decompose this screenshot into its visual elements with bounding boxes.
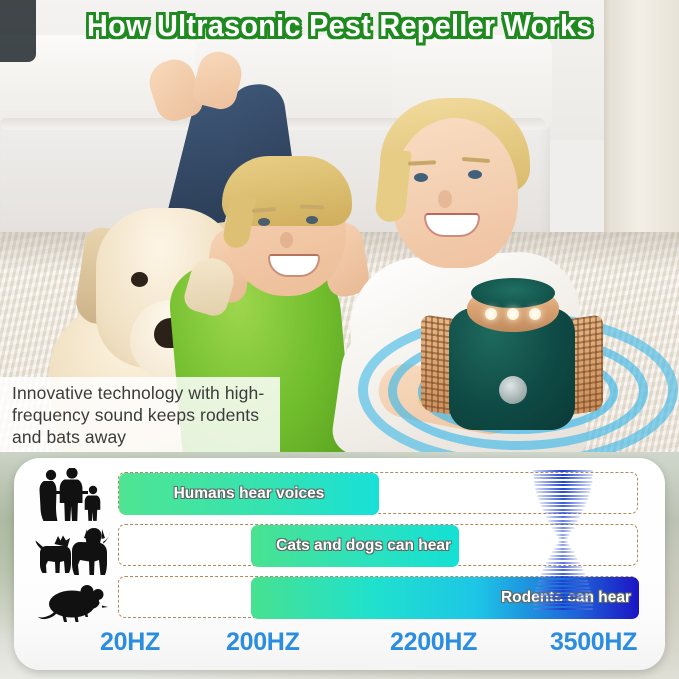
- waveform-line: [534, 484, 591, 486]
- bar-label-humans: Humans hear voices: [174, 485, 325, 503]
- bar-cats-dogs[interactable]: Cats and dogs can hear: [251, 525, 459, 567]
- waveform-line: [556, 534, 570, 536]
- waveform-line: [534, 594, 591, 596]
- woman-head: [392, 118, 518, 268]
- waveform-line: [554, 530, 572, 532]
- device-led-2: [507, 308, 519, 320]
- waveform-line: [543, 509, 584, 511]
- waveform-line: [537, 583, 589, 585]
- waveform-line: [556, 544, 570, 546]
- cat-and-dog-icon: [34, 522, 110, 576]
- axis-tick-2200hz: 2200HZ: [390, 628, 477, 657]
- waveform-line: [534, 481, 593, 483]
- woman-eye-right: [468, 170, 482, 179]
- waveform-line: [538, 498, 588, 500]
- waveform-line: [537, 495, 589, 497]
- bar-label-cats-dogs: Cats and dogs can hear: [276, 537, 451, 555]
- lifestyle-photo: Innovative technology with high-frequenc…: [0, 0, 679, 460]
- waveform-line: [552, 551, 575, 553]
- page-title: How Ultrasonic Pest Repeller Works: [87, 8, 593, 44]
- waveform-line: [544, 566, 582, 568]
- waveform-line: [540, 576, 587, 578]
- boy-eye-left: [258, 218, 270, 226]
- waveform-line: [533, 601, 592, 603]
- waveform-line: [541, 573, 585, 575]
- waveform-line: [540, 502, 587, 504]
- product-infographic: Innovative technology with high-frequenc…: [0, 0, 679, 679]
- waveform-line: [533, 474, 593, 476]
- waveform-line: [544, 512, 582, 514]
- photo-caption: Innovative technology with high-frequenc…: [0, 377, 280, 456]
- device-sensor: [499, 376, 527, 404]
- waveform-line: [543, 569, 584, 571]
- waveform-line: [554, 548, 572, 550]
- ultrasonic-waveform-icon: [530, 470, 596, 610]
- device-led-1: [485, 308, 497, 320]
- waveform-line: [548, 558, 578, 560]
- waveform-line: [550, 555, 576, 557]
- species-icon-column: [34, 468, 110, 630]
- boy-eye-right: [306, 216, 318, 224]
- waveform-line: [535, 590, 591, 592]
- waveform-line: [533, 470, 593, 472]
- waveform-line: [541, 505, 585, 507]
- waveform-line: [534, 597, 593, 599]
- waveform-line: [550, 523, 576, 525]
- dog-eye-left: [131, 272, 148, 287]
- woman-nose: [438, 190, 452, 208]
- woman-eye-left: [414, 173, 428, 182]
- family-icon: [34, 468, 110, 522]
- waveform-line: [533, 604, 593, 606]
- waveform-line: [538, 580, 588, 582]
- waveform-line: [535, 488, 591, 490]
- waveform-line: [558, 537, 568, 539]
- waveform-line: [533, 477, 592, 479]
- waveform-line: [533, 608, 593, 610]
- title-container: How Ultrasonic Pest Repeller Works: [0, 8, 679, 44]
- rat-icon: [34, 578, 110, 632]
- frequency-axis: 20HZ 200HZ 2200HZ 3500HZ: [118, 628, 666, 662]
- waveform-line: [536, 587, 590, 589]
- boy-nose: [280, 232, 293, 248]
- waveform-line: [546, 562, 580, 564]
- waveform-line: [552, 527, 575, 529]
- bar-humans[interactable]: Humans hear voices: [119, 473, 379, 515]
- waveform-line: [558, 541, 568, 543]
- device-led-3: [529, 308, 541, 320]
- axis-tick-3500hz: 3500HZ: [550, 628, 637, 657]
- ultrasonic-pest-repeller-device: [419, 286, 604, 446]
- device-top-cap: [471, 278, 555, 308]
- waveform-line: [548, 520, 578, 522]
- waveform-line: [546, 516, 580, 518]
- axis-tick-20hz: 20HZ: [100, 628, 160, 657]
- waveform-line: [536, 491, 590, 493]
- axis-tick-200hz: 200HZ: [226, 628, 300, 657]
